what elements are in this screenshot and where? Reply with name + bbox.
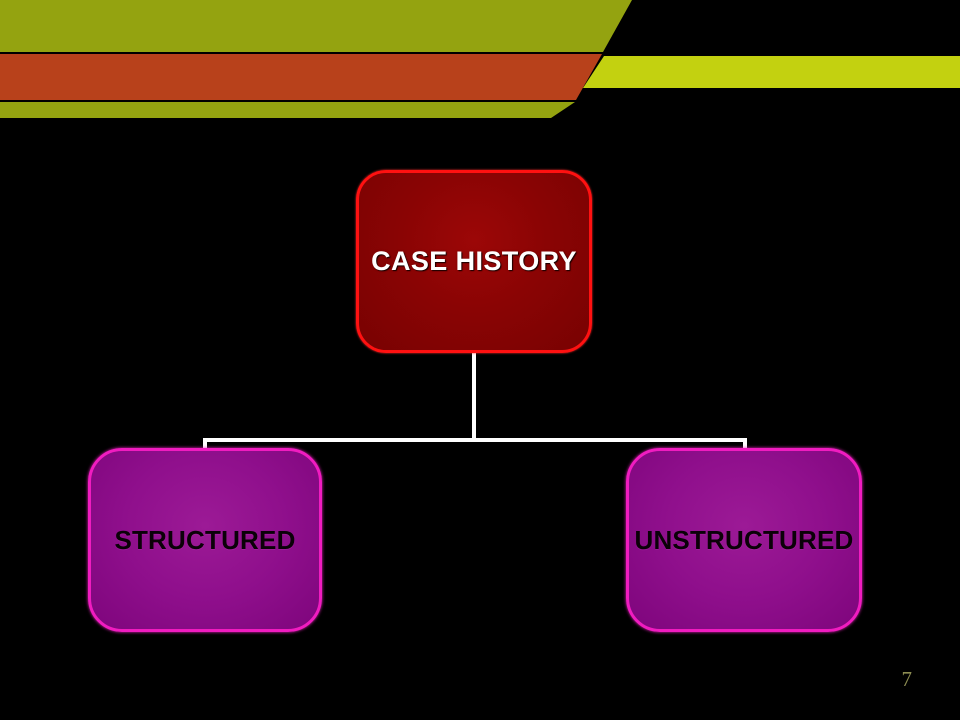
header-banner-graphic xyxy=(0,0,960,130)
header-band-middle xyxy=(0,54,602,100)
connector-trunk xyxy=(472,353,476,442)
connector-crossbar xyxy=(203,438,747,442)
page-number: 7 xyxy=(902,667,913,692)
node-structured-label: STRUCTURED xyxy=(114,527,295,553)
node-structured[interactable]: STRUCTURED xyxy=(88,448,322,632)
node-case-history[interactable]: CASE HISTORY xyxy=(356,170,592,353)
node-case-history-label: CASE HISTORY xyxy=(371,248,577,275)
header-band-right xyxy=(583,56,960,88)
node-unstructured-label: UNSTRUCTURED xyxy=(634,527,853,553)
node-unstructured[interactable]: UNSTRUCTURED xyxy=(626,448,862,632)
header-band-top xyxy=(0,0,632,52)
header-band-bottom xyxy=(0,102,575,118)
slide-canvas: CASE HISTORY STRUCTURED UNSTRUCTURED 7 xyxy=(0,0,960,720)
